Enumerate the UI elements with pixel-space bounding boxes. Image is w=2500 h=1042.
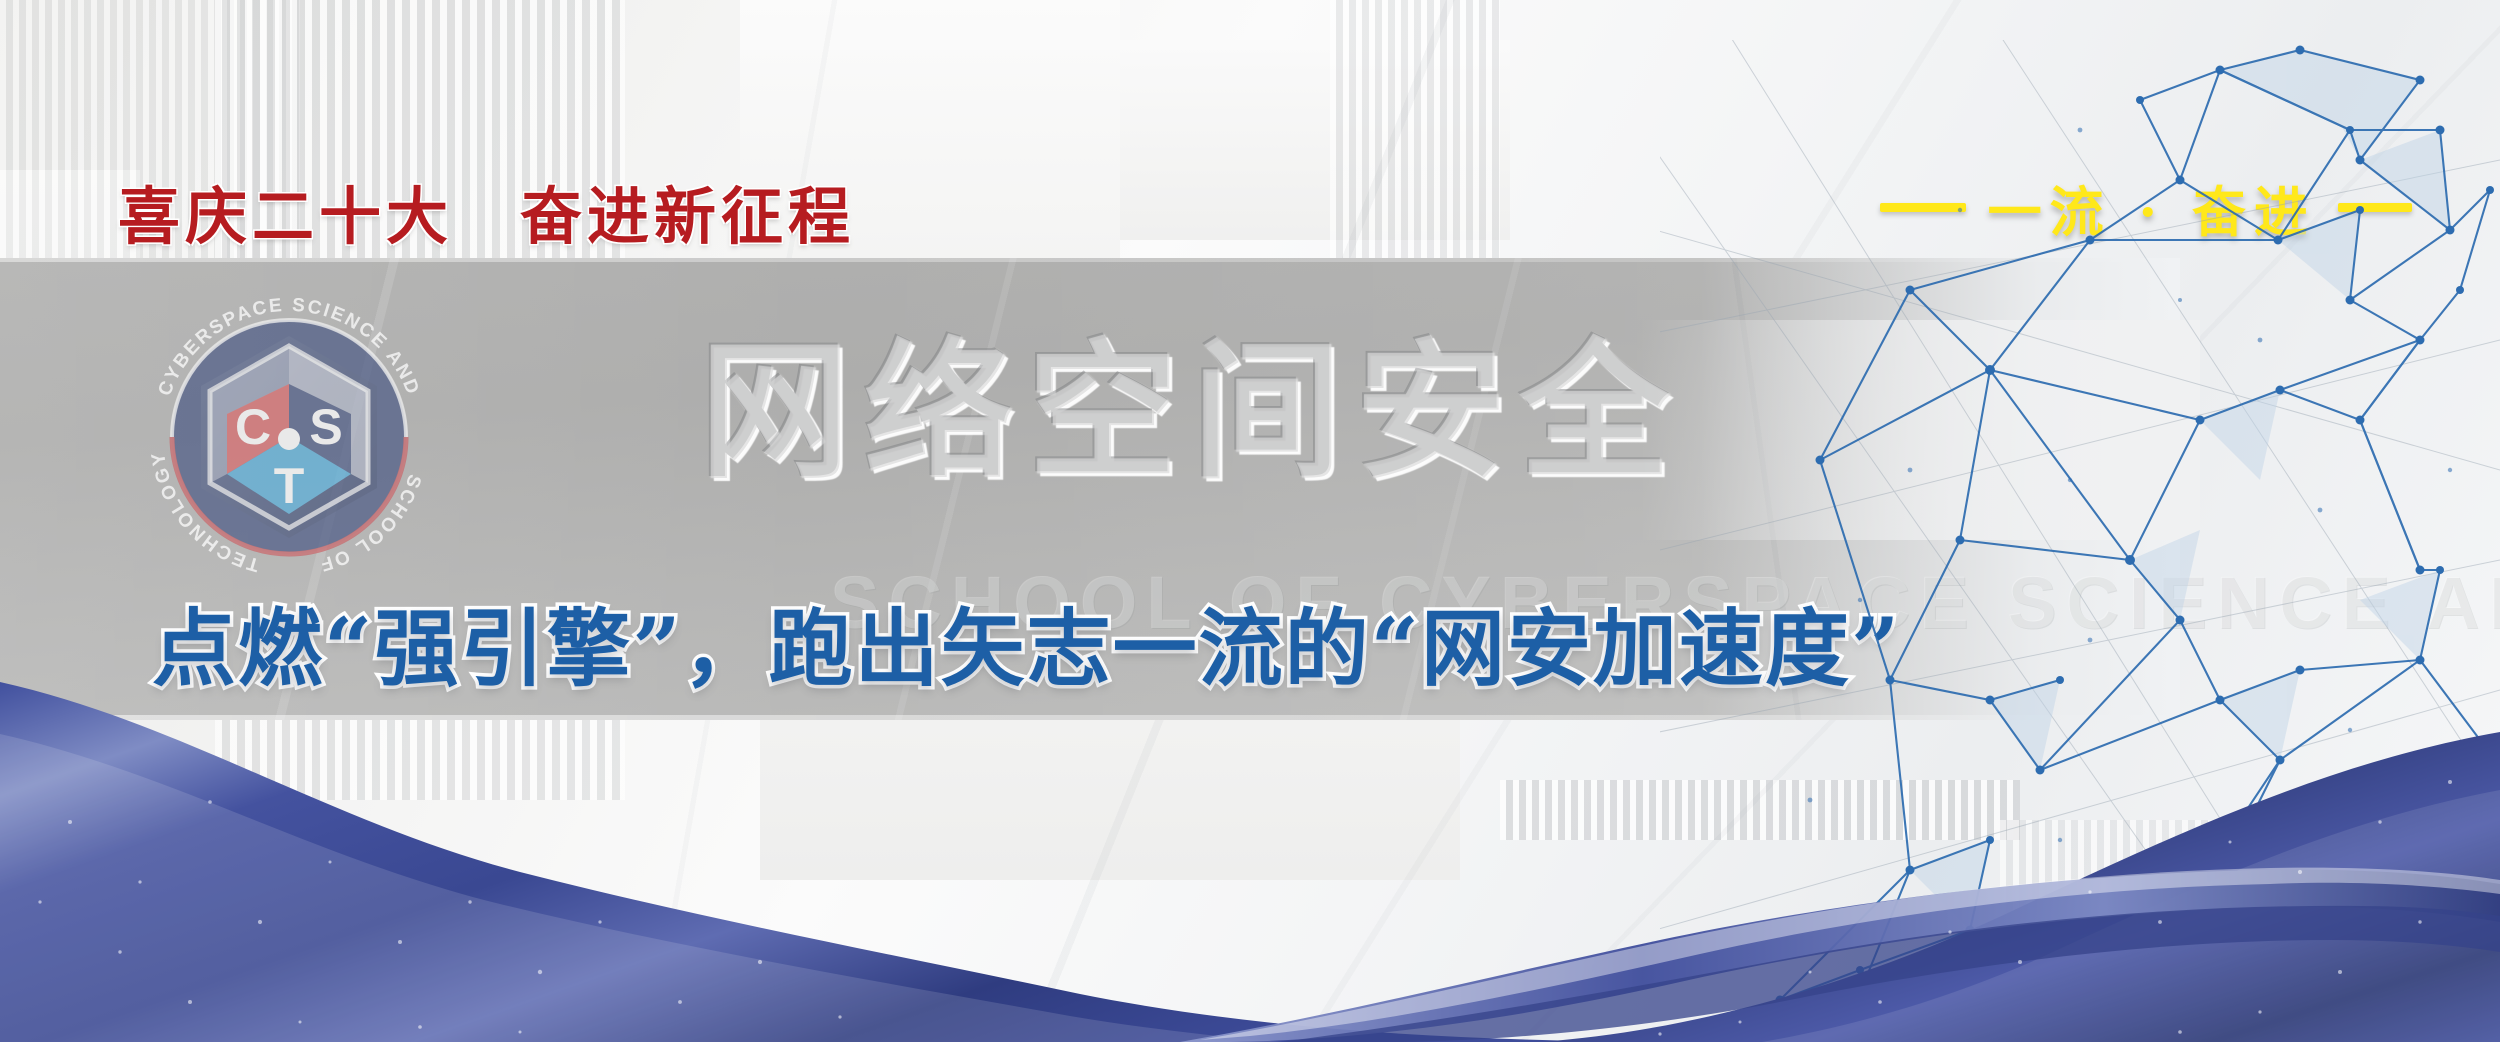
- cst-logo: CYBERSPACE SCIENCE AND SCHOOL OF TECHNOL…: [130, 278, 448, 596]
- network-edges: [1780, 50, 2490, 1042]
- headline-red: 喜庆二十大 奋进新征程: [118, 166, 855, 256]
- logo-letter-t: T: [274, 458, 305, 514]
- logo-letter-s: S: [309, 399, 342, 455]
- main-title: 点燃“强引擎”，跑出矢志一流的“网安加速度”: [152, 582, 1901, 703]
- banner-root: 网络空间安全 SCHOOL OF CYBERSPACE SCIENCE AND …: [0, 0, 2500, 1042]
- logo-center-dot: [278, 428, 300, 450]
- network-nodes: [1776, 46, 2495, 1042]
- network-constellation-graphic: [1660, 40, 2500, 1042]
- logo-letter-c: C: [235, 399, 271, 455]
- network-faces: [1780, 50, 2450, 1042]
- embossed-watermark-text: 网络空间安全: [700, 338, 1684, 488]
